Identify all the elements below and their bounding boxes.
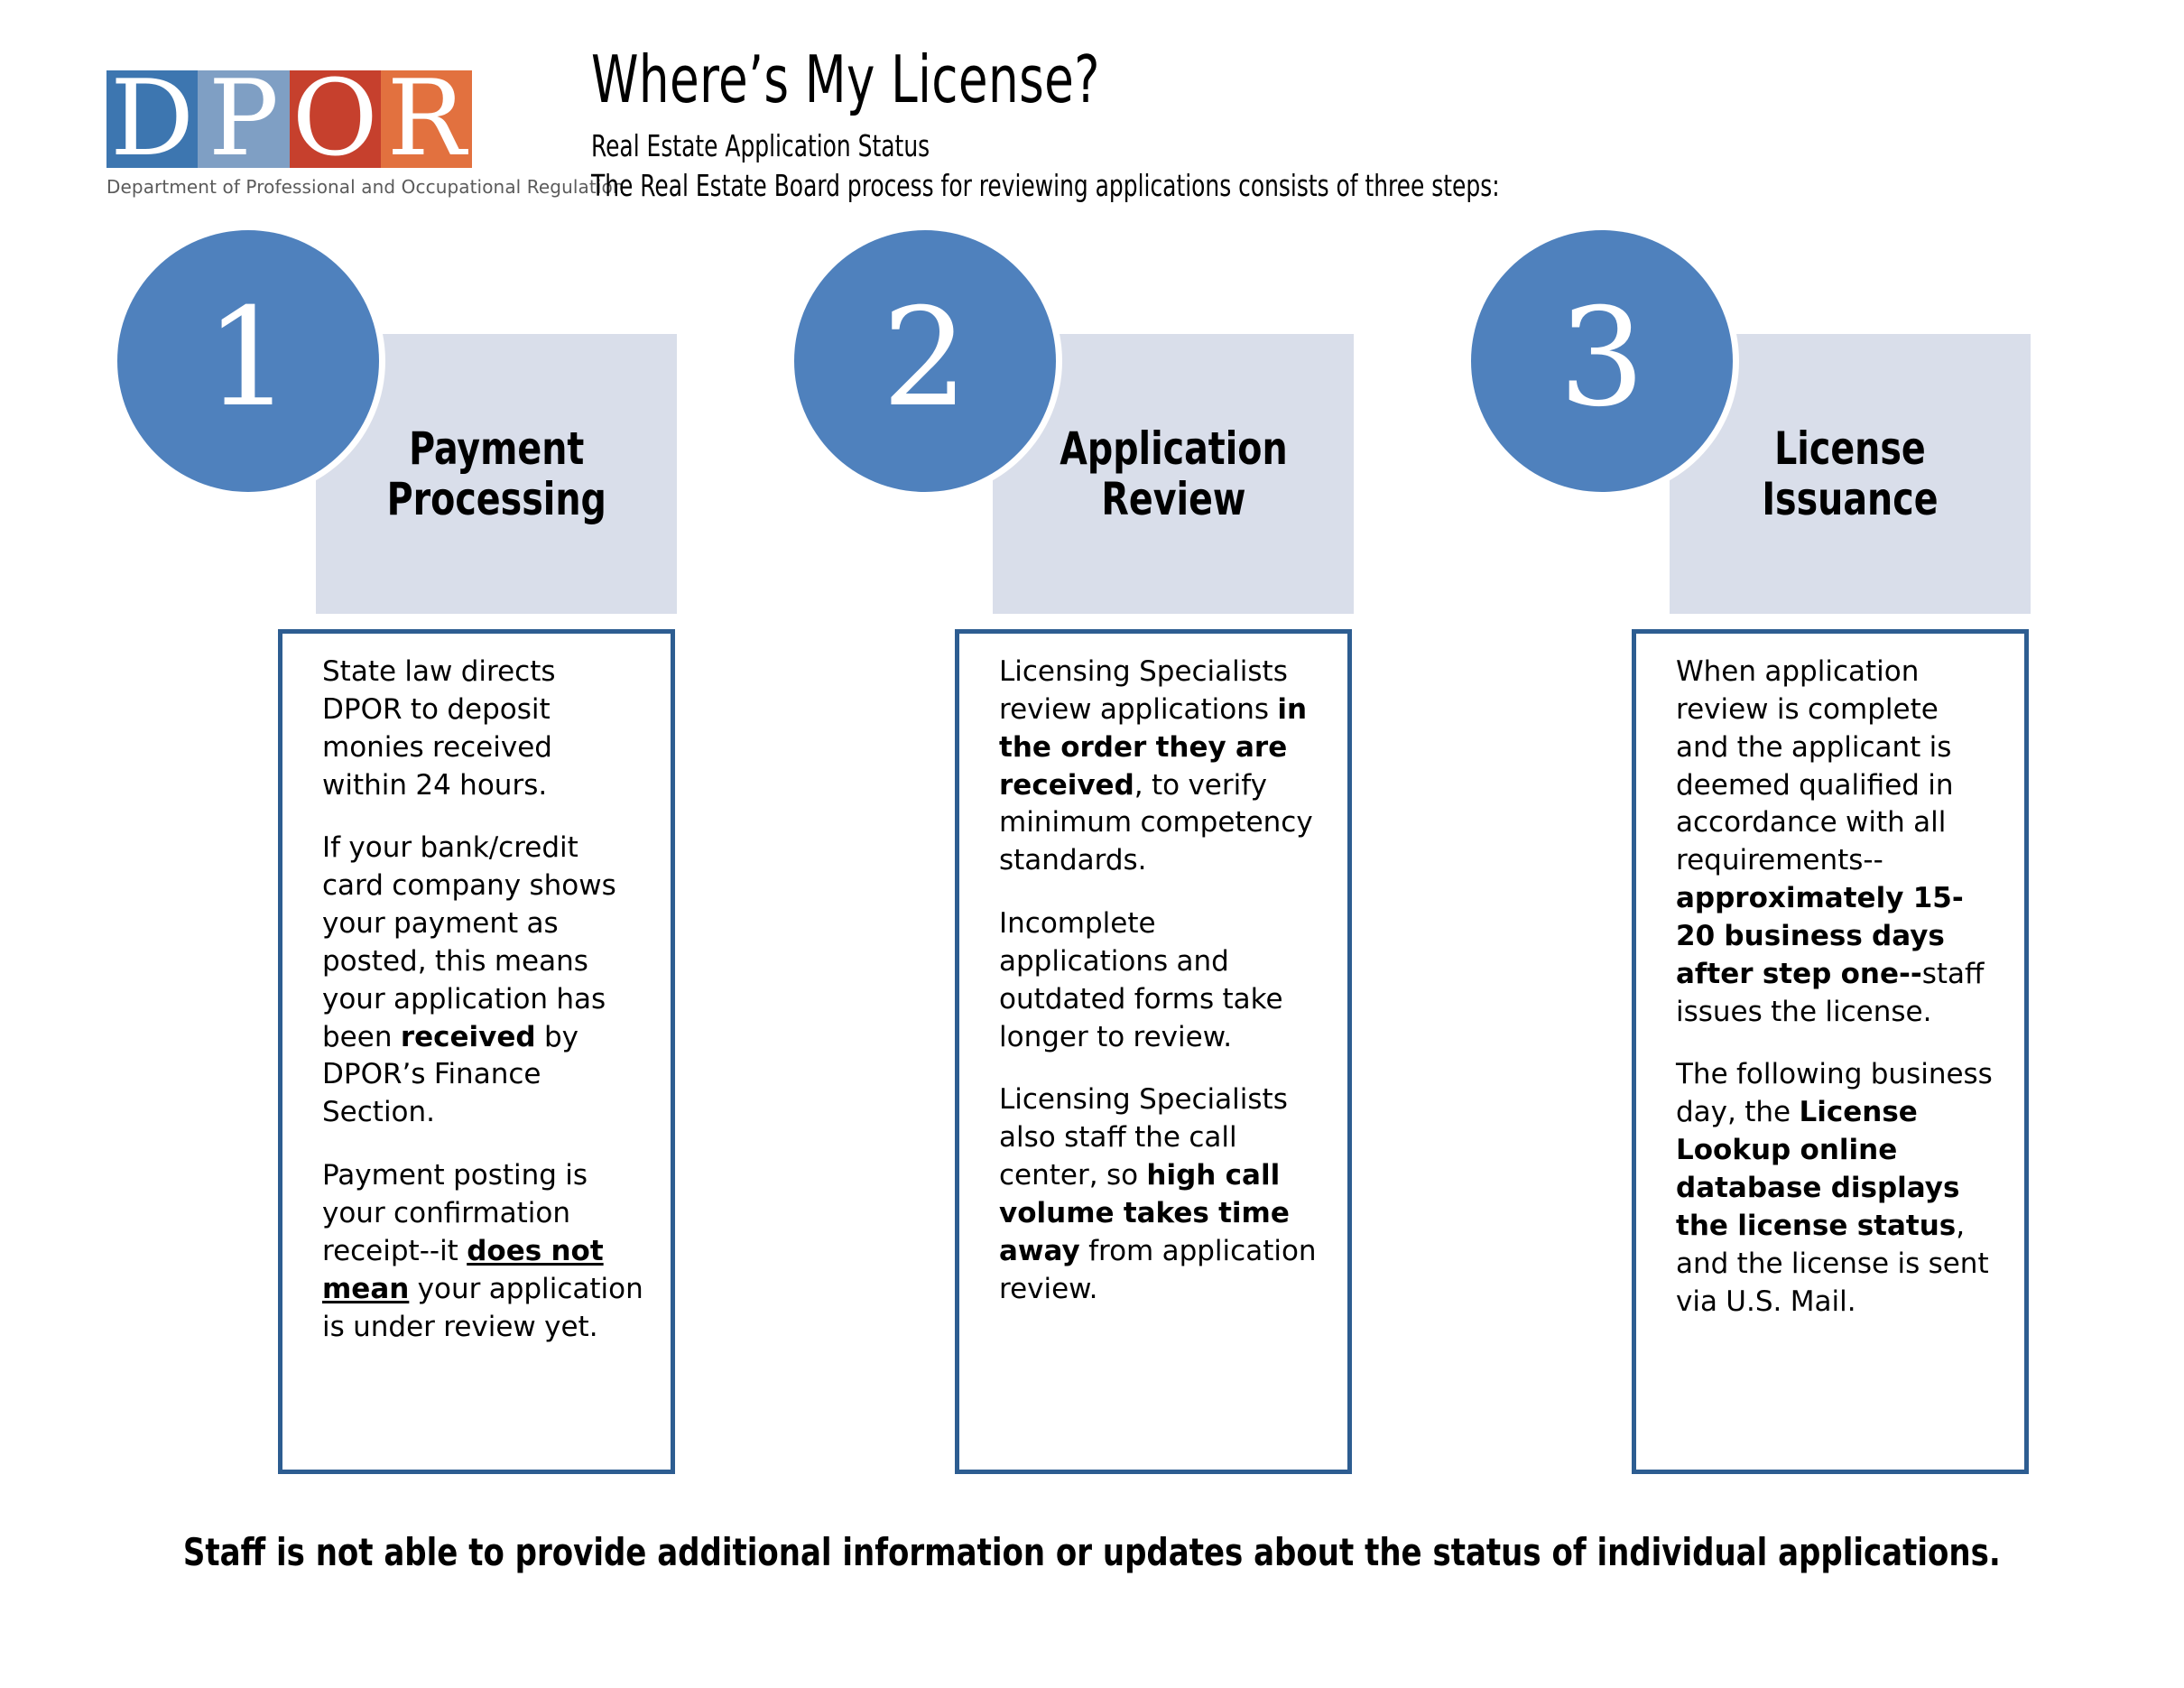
body-paragraph: State law directs DPOR to deposit monies… bbox=[322, 654, 643, 804]
logo-letter-r-tile: R bbox=[381, 70, 472, 168]
step-3-number-circle: 3 bbox=[1471, 230, 1733, 492]
body-paragraph: Licensing Specialists also staff the cal… bbox=[999, 1081, 1320, 1308]
logo-letter-p: P bbox=[198, 70, 289, 168]
step-1-number-circle: 1 bbox=[117, 230, 379, 492]
step-2-title: Application Review bbox=[1060, 423, 1287, 524]
dpor-logo: D P O R Department of Professional and O… bbox=[106, 70, 531, 198]
header-title-block: Where’s My License? Real Estate Applicat… bbox=[591, 47, 2125, 205]
steps-container: Payment Processing 1 State law directs D… bbox=[0, 230, 2184, 1512]
footer-note-text: Staff is not able to provide additional … bbox=[183, 1530, 2001, 1574]
step-2-number-circle: 2 bbox=[794, 230, 1056, 492]
body-paragraph: Payment posting is your confirmation rec… bbox=[322, 1157, 643, 1346]
step-2-number: 2 bbox=[882, 291, 967, 426]
page-title: Where’s My License? bbox=[591, 47, 1849, 112]
step-1-body-box: State law directs DPOR to deposit monies… bbox=[278, 629, 675, 1474]
step-1-title: Payment Processing bbox=[386, 423, 606, 524]
page-subtitle: Real Estate Application Status bbox=[591, 126, 1880, 166]
footer-note: Staff is not able to provide additional … bbox=[0, 1530, 2184, 1574]
logo-letter-d-tile: D bbox=[106, 70, 198, 168]
logo-letter-o-tile: O bbox=[290, 70, 381, 168]
step-3-title: License Issuance bbox=[1762, 423, 1938, 524]
logo-letter-o: O bbox=[290, 70, 381, 168]
step-column-2: Application Review 2 Licensing Specialis… bbox=[794, 230, 1354, 1512]
body-paragraph: When application review is complete and … bbox=[1676, 654, 1997, 1031]
logo-letter-r: R bbox=[381, 70, 472, 168]
step-1-number: 1 bbox=[205, 291, 291, 426]
body-paragraph: Incomplete applications and outdated for… bbox=[999, 905, 1320, 1056]
body-paragraph: Licensing Specialists review application… bbox=[999, 654, 1320, 880]
body-paragraph: The following business day, the License … bbox=[1676, 1056, 1997, 1321]
step-3-body-box: When application review is complete and … bbox=[1632, 629, 2029, 1474]
logo-tagline: Department of Professional and Occupatio… bbox=[106, 176, 531, 198]
logo-letter-d: D bbox=[106, 70, 198, 168]
step-column-1: Payment Processing 1 State law directs D… bbox=[117, 230, 677, 1512]
page-header: D P O R Department of Professional and O… bbox=[0, 0, 2184, 244]
step-2-body-box: Licensing Specialists review application… bbox=[955, 629, 1352, 1474]
step-column-3: License Issuance 3 When application revi… bbox=[1471, 230, 2031, 1512]
body-paragraph: If your bank/credit card company shows y… bbox=[322, 830, 643, 1132]
dpor-logo-letters: D P O R bbox=[106, 70, 472, 168]
logo-letter-p-tile: P bbox=[198, 70, 289, 168]
page-intro-text: The Real Estate Board process for review… bbox=[591, 166, 1880, 206]
step-3-number: 3 bbox=[1559, 291, 1644, 426]
